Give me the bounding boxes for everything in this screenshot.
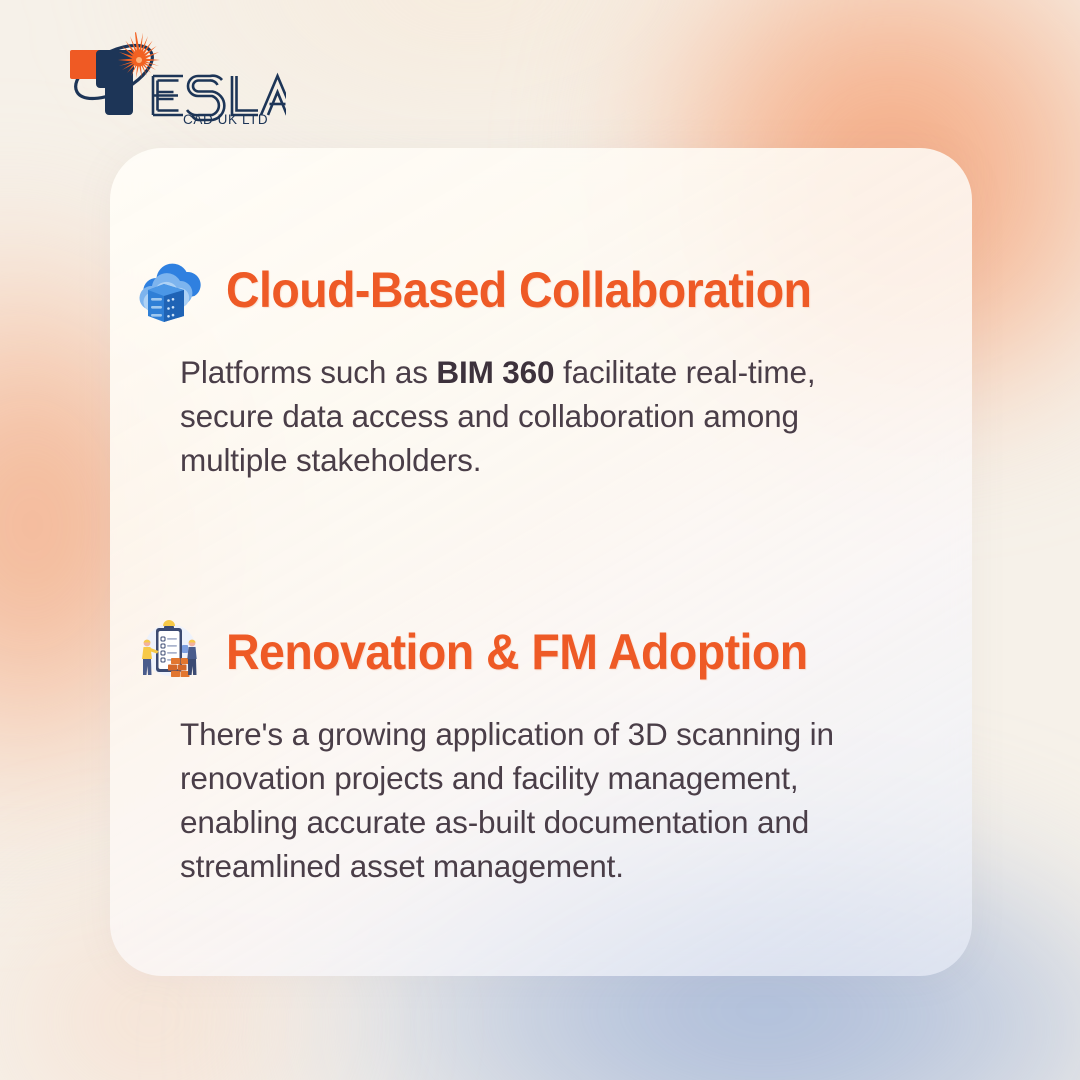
section-1-heading: Cloud-Based Collaboration <box>226 265 811 315</box>
section-2-body: There's a growing application of 3D scan… <box>110 712 972 888</box>
content-card: Cloud-Based Collaboration Platforms such… <box>110 148 972 976</box>
section-cloud-based-collaboration: Cloud-Based Collaboration Platforms such… <box>110 252 972 482</box>
section-1-body-bold-bim360: BIM 360 <box>436 354 554 390</box>
brick-stack-shape <box>168 658 190 677</box>
section-renovation-fm-adoption: Renovation & FM Adoption There's a growi… <box>110 614 972 888</box>
cloud-server-icon <box>130 252 206 328</box>
section-1-body: Platforms such as BIM 360 facilitate rea… <box>110 350 972 482</box>
section-2-header-row: Renovation & FM Adoption <box>110 614 972 690</box>
logo-tagline: CAD UK LTD <box>183 112 268 126</box>
brand-logo: CAD UK LTD <box>56 26 286 126</box>
server-rack-shape <box>148 284 184 322</box>
section-1-header-row: Cloud-Based Collaboration <box>110 252 972 328</box>
section-2-heading: Renovation & FM Adoption <box>226 627 808 677</box>
section-1-body-part-1: Platforms such as <box>180 354 436 390</box>
renovation-checklist-icon <box>130 614 206 690</box>
